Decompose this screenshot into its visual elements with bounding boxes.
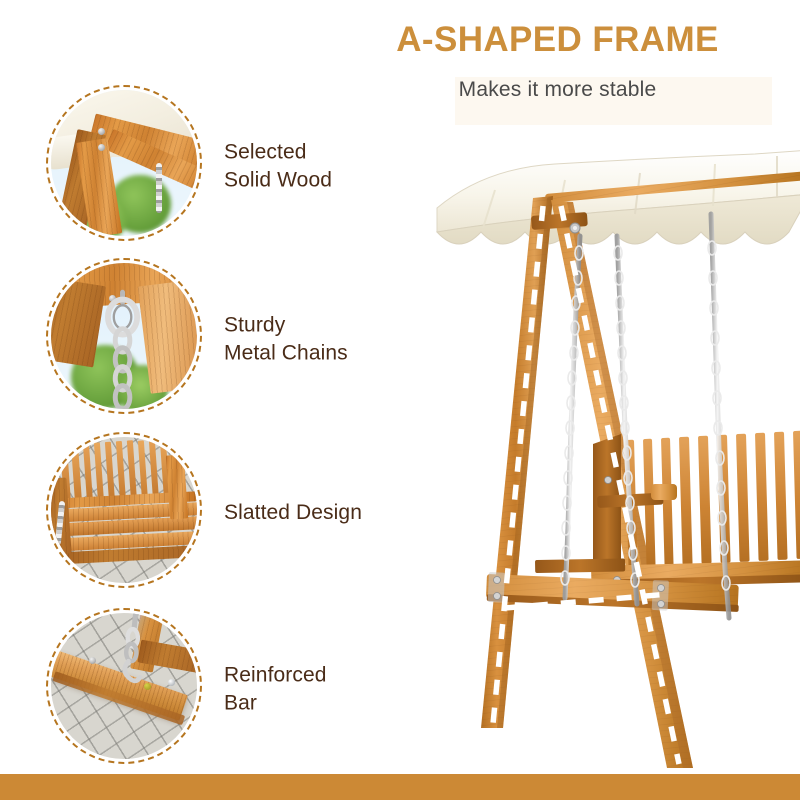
armrest-cap xyxy=(651,484,677,500)
bottom-accent-bar xyxy=(0,774,800,800)
bolt-icon xyxy=(98,144,105,151)
canopy-awning xyxy=(437,150,800,244)
hanging-chain xyxy=(156,163,162,213)
bolt-icon xyxy=(494,593,501,600)
bolt-icon xyxy=(98,128,105,135)
chain-hook-illustration xyxy=(51,263,197,409)
feature-photo-frame xyxy=(46,432,202,588)
bolt-icon xyxy=(494,577,501,584)
slatted-bench-seat-photo xyxy=(51,437,197,583)
feature-photo-frame xyxy=(46,258,202,414)
feature-item-sturdy-metal-chains: Sturdy Metal Chains xyxy=(46,258,436,420)
feature-item-reinforced-bar: Reinforced Bar xyxy=(46,608,436,770)
chain-hook-illustration xyxy=(51,613,197,759)
feature-label: Sturdy Metal Chains xyxy=(224,311,348,366)
bolt-icon xyxy=(658,585,665,592)
reinforced-cross-bar-photo xyxy=(51,613,197,759)
feature-item-slatted-design: Slatted Design xyxy=(46,432,436,594)
feature-label: Selected Solid Wood xyxy=(224,138,332,193)
feature-item-selected-solid-wood: Selected Solid Wood xyxy=(46,85,436,247)
feature-photo-frame xyxy=(46,608,202,764)
feature-label: Reinforced Bar xyxy=(224,661,327,716)
footrest-plank xyxy=(535,558,625,573)
bolt-icon xyxy=(658,601,665,608)
feature-photo-frame xyxy=(46,85,202,241)
canopy-frame-joint-photo xyxy=(51,90,197,236)
metal-chain-hook-photo xyxy=(51,263,197,409)
product-feature-infographic: A-SHAPED FRAME Makes it more stable Sele… xyxy=(0,0,800,800)
feature-label: Slatted Design xyxy=(224,499,362,527)
page-title: A-SHAPED FRAME xyxy=(330,22,785,59)
wooden-a-frame-porch-swing xyxy=(425,128,800,778)
product-illustration xyxy=(425,128,800,778)
bolt-icon xyxy=(605,477,612,484)
